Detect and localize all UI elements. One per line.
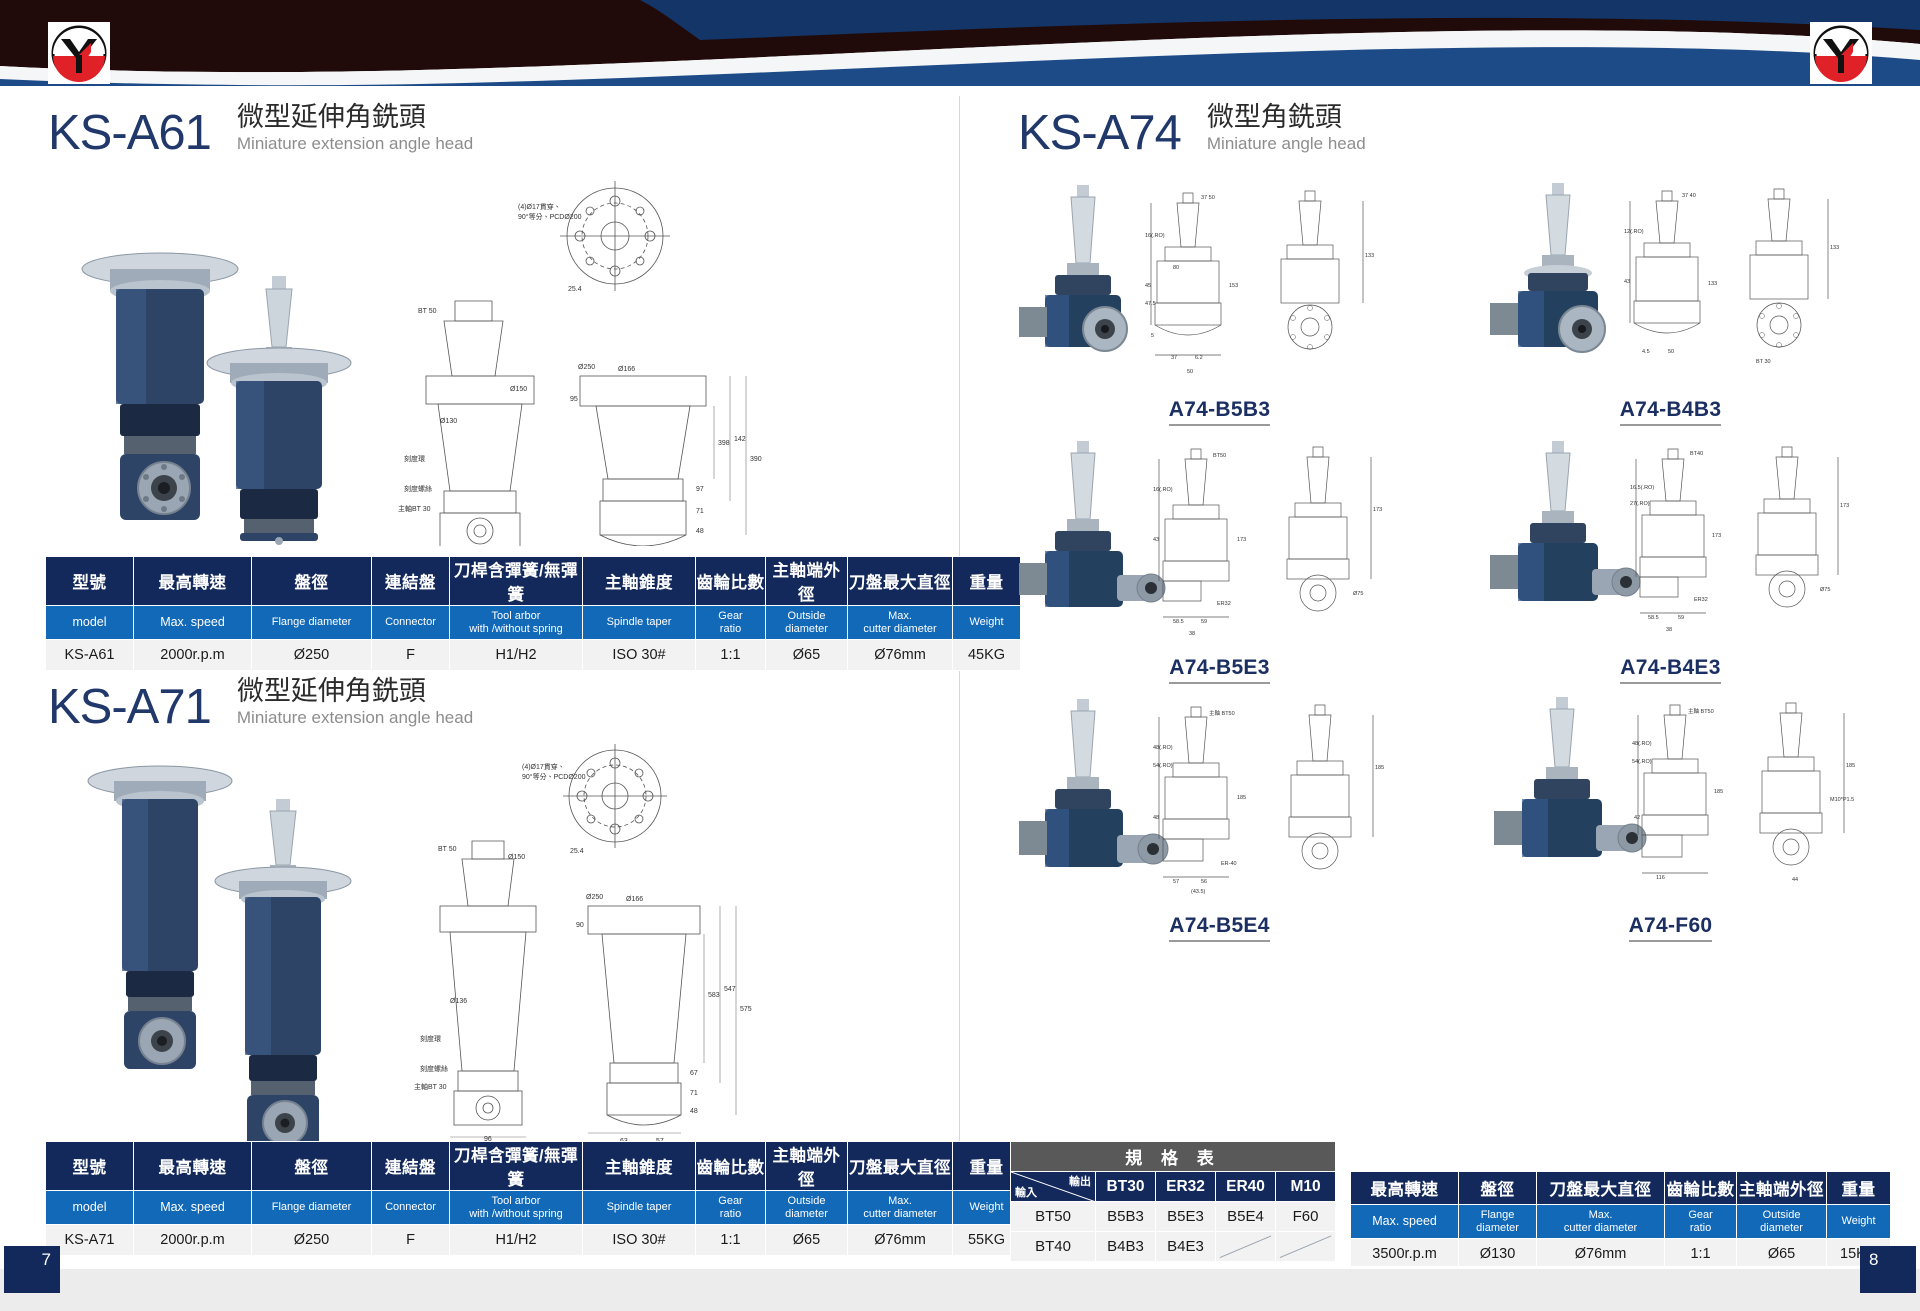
product-title-cn-a74: 微型角銑頭: [1207, 102, 1366, 133]
svg-text:48: 48: [696, 528, 704, 535]
svg-text:133: 133: [1365, 253, 1374, 259]
svg-text:BT 50: BT 50: [418, 308, 437, 315]
product-title-cn-a71: 微型延伸角銑頭: [237, 676, 473, 707]
th-cn-model: 型號: [46, 1142, 134, 1191]
product-code-a74: KS-A74: [1018, 109, 1181, 158]
svg-text:48(.RO): 48(.RO): [1153, 745, 1173, 751]
cell-outside: Ø65: [766, 640, 848, 671]
svg-text:173: 173: [1373, 507, 1382, 513]
svg-text:42: 42: [1634, 815, 1640, 821]
svg-text:27(.RO): 27(.RO): [1630, 501, 1650, 507]
th-cn-gear: 齒輪比數: [1665, 1172, 1737, 1205]
svg-text:ER32: ER32: [1694, 597, 1708, 603]
variant-photo: [1019, 185, 1127, 351]
svg-text:59: 59: [1678, 615, 1684, 621]
svg-text:25.4: 25.4: [568, 286, 582, 293]
variant-card: 37 4012(.RO) 43133 4.550 133BT 30 A74-B4…: [1451, 172, 1890, 426]
svg-text:45: 45: [1145, 283, 1151, 289]
svg-text:37: 37: [1171, 355, 1177, 361]
svg-text:BT 50: BT 50: [438, 846, 457, 853]
th-cn-cutter: 刀盤最大直徑: [848, 1142, 953, 1191]
svg-text:90°等分、PCDØ200: 90°等分、PCDØ200: [518, 212, 582, 221]
th-en-speed: Max. speed: [1351, 1205, 1459, 1239]
th-cn-model: 型號: [46, 557, 134, 606]
spec-table-a61: 型號 最高轉速 盤徑 連結盤 刀桿含彈簧/無彈簧 主軸錐度 齒輪比數 主軸端外徑…: [45, 556, 1021, 671]
th-cn-outside: 主軸端外徑: [766, 1142, 848, 1191]
svg-text:(4)Ø17貫穿、: (4)Ø17貫穿、: [518, 202, 561, 211]
svg-text:Ø166: Ø166: [626, 896, 643, 903]
svg-text:185: 185: [1375, 765, 1384, 771]
variant-photo: [1490, 183, 1605, 352]
variant-card: 主軸 BT5048(.RO) 54(.RO)185 42116 M10*P1.5…: [1451, 688, 1890, 942]
svg-text:6.2: 6.2: [1195, 355, 1203, 361]
variant-dimension-drawing: [1159, 705, 1373, 877]
th-en-arbor: Tool arbor with /without spring: [450, 606, 583, 640]
matrix-header-row: 輸出 輸入 BT30 ER32 ER40 M10: [1011, 1172, 1336, 1202]
th-cn-cutter: 刀盤最大直徑: [848, 557, 953, 606]
th-en-outside: Outside diameter: [766, 606, 848, 640]
section-header-a61: KS-A61 微型延伸角銑頭 Miniature extension angle…: [48, 102, 473, 158]
company-logo-left: [48, 22, 110, 84]
svg-text:43: 43: [1153, 537, 1159, 543]
th-cn-connector: 連結盤: [372, 557, 450, 606]
variant-illustration: BT4016.5(.RO) 27(.RO)173 58.559 ER3238 1…: [1451, 430, 1890, 654]
svg-text:185: 185: [1714, 789, 1723, 795]
cell-connector: F: [372, 640, 450, 671]
th-en-weight: Weight: [1827, 1205, 1891, 1239]
svg-text:主軸BT 30: 主軸BT 30: [414, 1082, 447, 1091]
th-cn-cutter: 刀盤最大直徑: [1537, 1172, 1665, 1205]
th-en-speed: Max. speed: [134, 606, 252, 640]
svg-text:185: 185: [1846, 763, 1855, 769]
svg-text:50: 50: [1187, 369, 1193, 375]
variant-illustration: 主軸 BT5048(.RO) 54(.RO)185 42116 M10*P1.5…: [1451, 688, 1890, 912]
cell-gear: 1:1: [696, 640, 766, 671]
svg-text:59: 59: [1201, 619, 1207, 625]
variant-grid-a74: 37 5080 16(.RO)45 47.55 376.2 15350 133 …: [1000, 172, 1890, 942]
matrix-row-head: BT50: [1011, 1202, 1096, 1232]
product-title-en-a61: Miniature extension angle head: [237, 133, 473, 155]
th-en-flange: Flange diameter: [1459, 1205, 1537, 1239]
matrix-cell: F60: [1276, 1202, 1336, 1232]
matrix-corner-cell: 輸出 輸入: [1011, 1172, 1096, 1202]
svg-text:Ø150: Ø150: [510, 386, 527, 393]
spec-table-a71: 型號 最高轉速 盤徑 連結盤 刀桿含彈簧/無彈簧 主軸錐度 齒輪比數 主軸端外徑…: [45, 1141, 1021, 1256]
product-title-cn-a61: 微型延伸角銑頭: [237, 102, 473, 133]
svg-text:58.5: 58.5: [1648, 615, 1659, 621]
section-header-a74: KS-A74 微型角銑頭 Miniature angle head: [1018, 102, 1366, 158]
product-illustration-a71: (4)Ø17貫穿、 90°等分、PCDØ200 25.4 BT 50 Ø250 …: [40, 741, 920, 1166]
svg-text:Ø75: Ø75: [1820, 587, 1830, 593]
matrix-col-head: ER40: [1216, 1172, 1276, 1202]
svg-text:133: 133: [1830, 245, 1839, 251]
svg-text:153: 153: [1229, 283, 1238, 289]
svg-text:M10*P1.5: M10*P1.5: [1830, 797, 1854, 803]
cross-reference-matrix-a74: 規 格 表 輸出 輸入 BT30 ER32 ER40 M1: [1010, 1141, 1336, 1262]
th-en-gear: Gear ratio: [696, 1191, 766, 1225]
svg-text:BT 30: BT 30: [1756, 359, 1771, 365]
section-header-a71: KS-A71 微型延伸角銑頭 Miniature extension angle…: [48, 676, 473, 732]
cell-speed: 2000r.p.m: [134, 640, 252, 671]
th-en-connector: Connector: [372, 606, 450, 640]
company-logo-right: [1810, 22, 1872, 84]
th-cn-flange: 盤徑: [1459, 1172, 1537, 1205]
table-header-cn-a71: 型號 最高轉速 盤徑 連結盤 刀桿含彈簧/無彈簧 主軸錐度 齒輪比數 主軸端外徑…: [46, 1142, 1021, 1191]
cell-arbor: H1/H2: [450, 640, 583, 671]
svg-text:185: 185: [1237, 795, 1246, 801]
th-en-outside: Outside diameter: [766, 1191, 848, 1225]
th-en-cutter: Max. cutter diameter: [1537, 1205, 1665, 1239]
top-banner: [0, 0, 1920, 86]
variant-dimension-drawing: [1630, 189, 1828, 348]
matrix-cell: B5B3: [1096, 1202, 1156, 1232]
svg-text:48(.RO): 48(.RO): [1632, 741, 1652, 747]
matrix-row: BT50 B5B3 B5E3 B5E4 F60: [1011, 1202, 1336, 1232]
svg-text:Ø166: Ø166: [618, 366, 635, 373]
th-en-taper: Spindle taper: [583, 1191, 696, 1225]
svg-text:25.4: 25.4: [570, 848, 584, 855]
svg-text:54(.RO): 54(.RO): [1153, 763, 1173, 769]
svg-text:71: 71: [690, 1090, 698, 1097]
photo-a61-right: [207, 276, 351, 545]
variant-label: A74-B5E3: [1169, 656, 1269, 684]
th-en-flange: Flange diameter: [252, 1191, 372, 1225]
th-en-outside: Outside diameter: [1737, 1205, 1827, 1239]
svg-text:47.5: 47.5: [1145, 301, 1156, 307]
variant-illustration: BT5016(.RO) 43173 58.559 ER3238 173Ø75: [1000, 430, 1439, 654]
svg-text:90°等分、PCDØ200: 90°等分、PCDØ200: [522, 772, 586, 781]
svg-text:16(.RO): 16(.RO): [1153, 487, 1173, 493]
svg-text:48: 48: [690, 1108, 698, 1115]
product-code-a61: KS-A61: [48, 109, 211, 158]
footer-bar: [0, 1269, 1920, 1311]
svg-text:刻度螺絲: 刻度螺絲: [420, 1064, 448, 1073]
th-en-gear: Gear ratio: [1665, 1205, 1737, 1239]
photo-a61-left: [82, 253, 238, 520]
svg-text:48: 48: [1153, 815, 1159, 821]
matrix-output-label: 輸出: [1069, 1173, 1091, 1189]
matrix-cell: B5E3: [1156, 1202, 1216, 1232]
svg-text:58.5: 58.5: [1173, 619, 1184, 625]
matrix-title: 規 格 表: [1011, 1142, 1336, 1172]
th-cn-flange: 盤徑: [252, 557, 372, 606]
table-row: KS-A61 2000r.p.m Ø250 F H1/H2 ISO 30# 1:…: [46, 640, 1021, 671]
matrix-cell: B5E4: [1216, 1202, 1276, 1232]
th-cn-speed: 最高轉速: [134, 557, 252, 606]
svg-text:43: 43: [1624, 279, 1630, 285]
svg-text:Ø130: Ø130: [440, 418, 457, 425]
svg-text:Ø75: Ø75: [1353, 591, 1363, 597]
th-cn-flange: 盤徑: [252, 1142, 372, 1191]
svg-text:Ø150: Ø150: [508, 854, 525, 861]
svg-text:5: 5: [1151, 333, 1154, 339]
svg-text:Ø250: Ø250: [586, 894, 603, 901]
product-code-a71: KS-A71: [48, 683, 211, 732]
svg-text:575: 575: [740, 1006, 752, 1013]
cell-flange: Ø250: [252, 640, 372, 671]
svg-text:ER-40: ER-40: [1221, 861, 1237, 867]
th-en-model: model: [46, 1191, 134, 1225]
variant-label: A74-F60: [1629, 914, 1713, 942]
svg-text:4.5: 4.5: [1642, 349, 1650, 355]
svg-text:398: 398: [718, 440, 730, 447]
svg-text:90: 90: [576, 922, 584, 929]
svg-text:56: 56: [1201, 879, 1207, 885]
drawing-annotations-a71: (4)Ø17貫穿、 90°等分、PCDØ200 25.4 BT 50 Ø250 …: [414, 762, 752, 1145]
svg-text:80: 80: [1173, 265, 1179, 271]
product-title-en-a74: Miniature angle head: [1207, 133, 1366, 155]
product-illustration-a61: (4)Ø17貫穿、 90°等分、PCDØ200 25.4 BT 50 Ø250 …: [40, 161, 920, 546]
svg-text:54(.RO): 54(.RO): [1632, 759, 1652, 765]
svg-text:50: 50: [1668, 349, 1674, 355]
svg-text:(43.5): (43.5): [1191, 889, 1206, 895]
svg-text:ER32: ER32: [1217, 601, 1231, 607]
photo-a71-right: [215, 799, 351, 1149]
variant-card: 主軸 BT5048(.RO) 54(.RO)185 4857 56ER-40 (…: [1000, 688, 1439, 942]
svg-text:173: 173: [1712, 533, 1721, 539]
th-cn-taper: 主軸錐度: [583, 557, 696, 606]
table-header-cn-a74: 最高轉速 盤徑 刀盤最大直徑 齒輪比數 主軸端外徑 重量: [1351, 1172, 1891, 1205]
matrix-input-label: 輸入: [1015, 1184, 1037, 1200]
variant-illustration: 37 4012(.RO) 43133 4.550 133BT 30: [1451, 172, 1890, 396]
th-en-speed: Max. speed: [134, 1191, 252, 1225]
variant-photo: [1019, 441, 1165, 607]
th-en-model: model: [46, 606, 134, 640]
th-cn-gear: 齒輪比數: [696, 1142, 766, 1191]
variant-label: A74-B4E3: [1620, 656, 1720, 684]
variant-dimension-drawing: [1636, 447, 1838, 613]
th-cn-arbor: 刀桿含彈簧/無彈簧: [450, 557, 583, 606]
right-page: KS-A74 微型角銑頭 Miniature angle head: [960, 86, 1920, 1246]
svg-text:16.5(.RO): 16.5(.RO): [1630, 485, 1654, 491]
table-header-cn-a61: 型號 最高轉速 盤徑 連結盤 刀桿含彈簧/無彈簧 主軸錐度 齒輪比數 主軸端外徑…: [46, 557, 1021, 606]
svg-text:390: 390: [750, 456, 762, 463]
left-page: KS-A61 微型延伸角銑頭 Miniature extension angle…: [0, 86, 960, 1246]
product-title-en-a71: Miniature extension angle head: [237, 707, 473, 729]
th-en-taper: Spindle taper: [583, 606, 696, 640]
variant-card: BT5016(.RO) 43173 58.559 ER3238 173Ø75 A…: [1000, 430, 1439, 684]
svg-text:(4)Ø17貫穿、: (4)Ø17貫穿、: [522, 762, 565, 771]
table-header-en-a71: model Max. speed Flange diameter Connect…: [46, 1191, 1021, 1225]
th-en-flange: Flange diameter: [252, 606, 372, 640]
variant-label: A74-B5E4: [1169, 914, 1269, 942]
variant-photo: [1490, 441, 1640, 601]
cell-taper: ISO 30#: [583, 640, 696, 671]
matrix-col-head: M10: [1276, 1172, 1336, 1202]
svg-text:173: 173: [1840, 503, 1849, 509]
svg-text:主軸 BT50: 主軸 BT50: [1688, 707, 1714, 715]
variant-illustration: 主軸 BT5048(.RO) 54(.RO)185 4857 56ER-40 (…: [1000, 688, 1439, 912]
variant-dimension-drawing: [1151, 191, 1363, 355]
svg-text:刻度螺絲: 刻度螺絲: [404, 484, 432, 493]
svg-text:37 50: 37 50: [1201, 195, 1215, 201]
catalog-page: KS-A61 微型延伸角銑頭 Miniature extension angle…: [0, 0, 1920, 1311]
svg-text:67: 67: [690, 1070, 698, 1077]
footer-accent: [0, 1266, 1920, 1269]
variant-dimension-drawing: [1638, 703, 1844, 873]
variant-label: A74-B4B3: [1620, 398, 1722, 426]
cell-model: KS-A61: [46, 640, 134, 671]
variant-dimension-drawing: [1159, 447, 1371, 617]
variant-illustration: 37 5080 16(.RO)45 47.55 376.2 15350 133: [1000, 172, 1439, 396]
svg-text:38: 38: [1666, 627, 1672, 633]
svg-text:Ø136: Ø136: [450, 998, 467, 1005]
svg-text:主軸 BT50: 主軸 BT50: [1209, 709, 1235, 717]
svg-text:BT40: BT40: [1690, 451, 1703, 457]
svg-text:583: 583: [708, 992, 720, 999]
th-en-cutter: Max. cutter diameter: [848, 1191, 953, 1225]
matrix-col-head: ER32: [1156, 1172, 1216, 1202]
technical-drawing-a71: [440, 744, 736, 1137]
variant-photo: [1019, 699, 1168, 867]
table-header-en-a74: Max. speed Flange diameter Max. cutter d…: [1351, 1205, 1891, 1239]
drawing-annotations-a61: (4)Ø17貫穿、 90°等分、PCDØ200 25.4 BT 50 Ø250 …: [398, 202, 762, 546]
th-cn-speed: 最高轉速: [1351, 1172, 1459, 1205]
th-cn-arbor: 刀桿含彈簧/無彈簧: [450, 1142, 583, 1191]
svg-text:44: 44: [1792, 877, 1798, 883]
th-en-cutter: Max. cutter diameter: [848, 606, 953, 640]
th-cn-gear: 齒輪比數: [696, 557, 766, 606]
svg-text:71: 71: [696, 508, 704, 515]
variant-label: A74-B5B3: [1169, 398, 1271, 426]
th-cn-outside: 主軸端外徑: [766, 557, 848, 606]
page-footer: 7 8: [0, 1246, 1920, 1311]
th-en-arbor: Tool arbor with /without spring: [450, 1191, 583, 1225]
th-en-connector: Connector: [372, 1191, 450, 1225]
th-cn-outside: 主軸端外徑: [1737, 1172, 1827, 1205]
svg-text:37 40: 37 40: [1682, 193, 1696, 199]
variant-photo: [1494, 697, 1646, 857]
svg-text:BT50: BT50: [1213, 453, 1226, 459]
svg-text:12(.RO): 12(.RO): [1624, 229, 1644, 235]
th-cn-speed: 最高轉速: [134, 1142, 252, 1191]
svg-text:Ø250: Ø250: [578, 364, 595, 371]
svg-text:173: 173: [1237, 537, 1246, 543]
th-en-gear: Gear ratio: [696, 606, 766, 640]
photo-a71-left: [88, 766, 232, 1069]
th-cn-weight: 重量: [1827, 1172, 1891, 1205]
svg-text:133: 133: [1708, 281, 1717, 287]
svg-text:95: 95: [570, 396, 578, 403]
svg-text:主軸BT 30: 主軸BT 30: [398, 504, 431, 513]
variant-card: BT4016.5(.RO) 27(.RO)173 58.559 ER3238 1…: [1451, 430, 1890, 684]
svg-text:刻度環: 刻度環: [404, 454, 425, 463]
cell-cutter: Ø76mm: [848, 640, 953, 671]
svg-text:57: 57: [1173, 879, 1179, 885]
svg-text:116: 116: [1656, 875, 1665, 881]
page-number-right: 8: [1860, 1246, 1916, 1293]
page-number-left: 7: [4, 1246, 60, 1293]
svg-text:16(.RO): 16(.RO): [1145, 233, 1165, 239]
svg-text:142: 142: [734, 436, 746, 443]
variant-card: 37 5080 16(.RO)45 47.55 376.2 15350 133 …: [1000, 172, 1439, 426]
svg-text:刻度環: 刻度環: [420, 1034, 441, 1043]
table-header-en-a61: model Max. speed Flange diameter Connect…: [46, 606, 1021, 640]
th-cn-connector: 連結盤: [372, 1142, 450, 1191]
svg-text:38: 38: [1189, 631, 1195, 637]
svg-text:547: 547: [724, 986, 736, 993]
svg-text:97: 97: [696, 486, 704, 493]
th-cn-taper: 主軸錐度: [583, 1142, 696, 1191]
matrix-col-head: BT30: [1096, 1172, 1156, 1202]
